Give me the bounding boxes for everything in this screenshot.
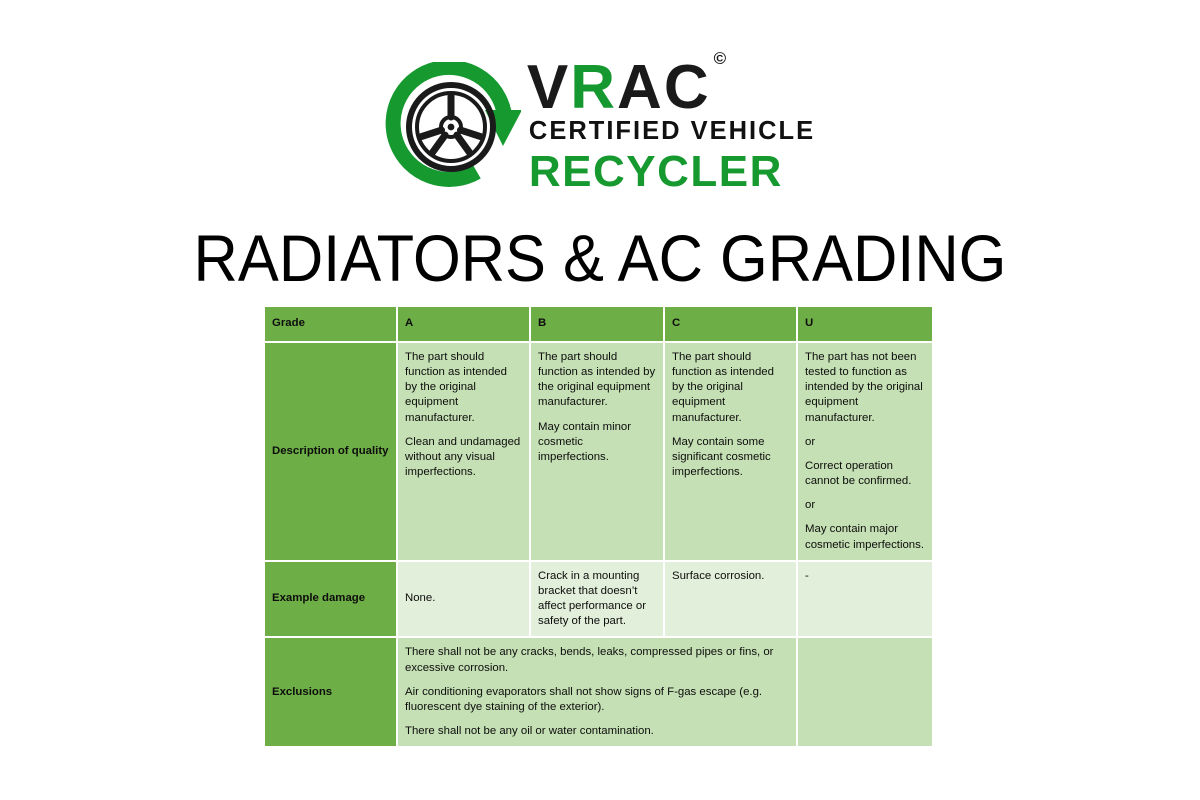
cell-paragraph: The part should function as intended by … <box>405 350 522 426</box>
cell-paragraph-or: or <box>805 498 925 513</box>
page-title: RADIATORS & AC GRADING <box>42 220 1158 296</box>
logo-letter-r: R <box>570 53 617 122</box>
copyright-icon: © <box>714 49 727 68</box>
cell-paragraph: The part should function as intended by … <box>538 350 656 411</box>
cell-paragraph: There shall not be any cracks, bends, le… <box>405 645 789 675</box>
cell-exclusions-u-empty <box>798 638 932 748</box>
column-header-b: B <box>531 307 665 343</box>
brand-logo: VRAC© CERTIFIED VEHICLE RECYCLER <box>0 52 1200 202</box>
row-label-example-damage: Example damage <box>265 562 398 639</box>
column-header-a: A <box>398 307 531 343</box>
cell-paragraph: The part has not been tested to function… <box>805 350 925 426</box>
table-header-row: Grade A B C U <box>265 307 932 343</box>
table-row-description-of-quality: Description of quality The part should f… <box>265 343 932 562</box>
logo-inner: VRAC© CERTIFIED VEHICLE RECYCLER <box>385 57 815 197</box>
cell-example-damage-u: - <box>798 562 932 639</box>
cell-example-damage-b: Crack in a mounting bracket that doesn’t… <box>531 562 665 639</box>
cell-exclusions-text: There shall not be any cracks, bends, le… <box>398 638 798 748</box>
cell-description-c: The part should function as intended by … <box>665 343 798 562</box>
grading-table: Grade A B C U Description of quality The… <box>265 307 932 748</box>
column-header-u: U <box>798 307 932 343</box>
cell-description-u: The part has not been tested to function… <box>798 343 932 562</box>
cell-example-damage-c: Surface corrosion. <box>665 562 798 639</box>
cell-paragraph: May contain some significant cosmetic im… <box>672 435 789 480</box>
column-header-grade: Grade <box>265 307 398 343</box>
cell-paragraph: Clean and undamaged without any visual i… <box>405 435 522 480</box>
logo-letters-ac: AC <box>617 53 711 122</box>
cell-example-damage-a: None. <box>398 562 531 639</box>
cell-paragraph: May contain major cosmetic imperfections… <box>805 522 925 552</box>
column-header-c: C <box>665 307 798 343</box>
row-label-description-of-quality: Description of quality <box>265 343 398 562</box>
logo-letter-v: V <box>527 53 570 122</box>
cell-paragraph: There shall not be any oil or water cont… <box>405 724 789 739</box>
table-row-example-damage: Example damage None. Crack in a mounting… <box>265 562 932 639</box>
logo-wordmark: VRAC© CERTIFIED VEHICLE RECYCLER <box>527 57 815 197</box>
cell-paragraph: Air conditioning evaporators shall not s… <box>405 685 789 715</box>
cell-paragraph: The part should function as intended by … <box>672 350 789 426</box>
row-label-exclusions: Exclusions <box>265 638 398 748</box>
cell-description-a: The part should function as intended by … <box>398 343 531 562</box>
cell-description-b: The part should function as intended by … <box>531 343 665 562</box>
vrac-recycle-wheel-logo-icon <box>385 62 521 192</box>
cell-paragraph-or: or <box>805 435 925 450</box>
logo-wordmark-vrac: VRAC© <box>527 59 815 116</box>
table-row-exclusions: Exclusions There shall not be any cracks… <box>265 638 932 748</box>
cell-paragraph: May contain minor cosmetic imperfections… <box>538 420 656 465</box>
logo-recycler: RECYCLER <box>529 147 815 197</box>
cell-paragraph: Correct operation cannot be confirmed. <box>805 459 925 489</box>
